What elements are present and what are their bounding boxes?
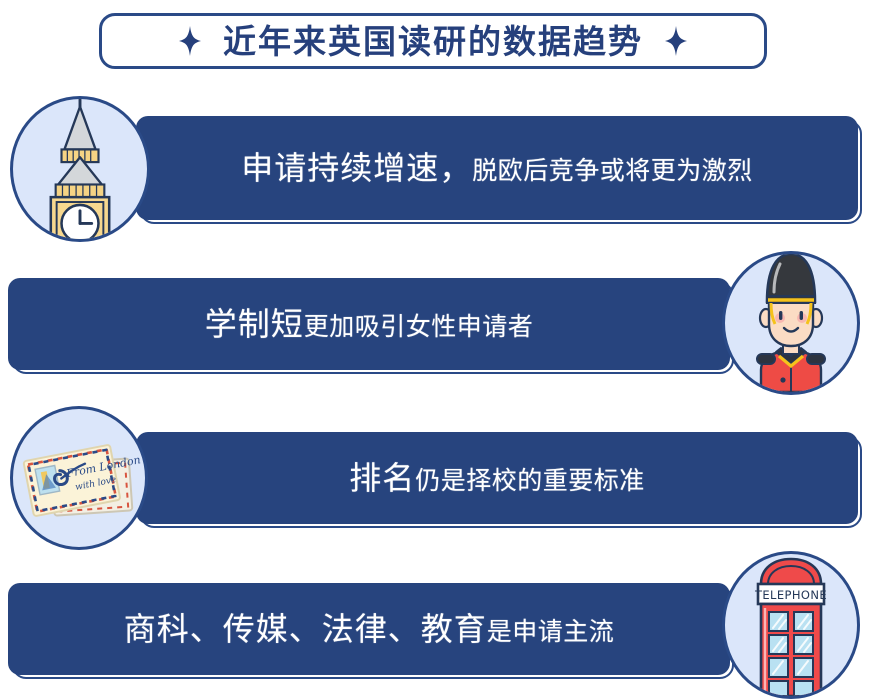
page-title: 近年来英国读研的数据趋势 — [223, 25, 643, 58]
info-bar-2-text: 学制短更加吸引女性申请者 — [8, 308, 730, 340]
info-bar-2[interactable]: 学制短更加吸引女性申请者 — [8, 278, 730, 370]
info-bar-3-detail: 仍是择校的重要标准 — [415, 466, 645, 495]
icon-bubble-4: TELEPHONE — [722, 551, 860, 699]
airmail-envelope-icon: From London with love — [13, 406, 145, 550]
icon-bubble-2 — [722, 251, 860, 395]
big-ben-icon — [20, 96, 140, 239]
info-bar-1-emphasis: 申请持续增速 — [241, 149, 439, 187]
info-bar-1-detail: 脱欧后竞争或将更为激烈 — [472, 156, 753, 185]
royal-guard-icon — [731, 251, 851, 392]
info-bar-3[interactable]: 排名仍是择校的重要标准 — [136, 432, 858, 524]
info-bar-1-separator: ， — [439, 149, 472, 187]
info-bar-4-detail: 是申请主流 — [487, 617, 615, 646]
info-bar-3-text: 排名仍是择校的重要标准 — [136, 462, 858, 494]
info-bar-4-emphasis: 商科、传媒、法律、教育 — [124, 610, 487, 648]
title-box: 近年来英国读研的数据趋势 — [99, 13, 767, 69]
svg-text:TELEPHONE: TELEPHONE — [754, 588, 827, 602]
info-bar-3-emphasis: 排名 — [349, 459, 415, 497]
icon-bubble-3: From London with love — [10, 406, 148, 550]
telephone-box-icon: TELEPHONE — [731, 551, 851, 696]
icon-bubble-1 — [10, 96, 150, 242]
info-bar-1[interactable]: 申请持续增速，脱欧后竞争或将更为激烈 — [136, 116, 858, 220]
page-title-banner: 近年来英国读研的数据趋势 — [99, 13, 767, 69]
info-bar-1-text: 申请持续增速，脱欧后竞争或将更为激烈 — [136, 152, 858, 184]
sparkle-diamond-icon-right — [665, 26, 687, 56]
sparkle-diamond-icon-left — [179, 26, 201, 56]
info-bar-2-emphasis: 学制短 — [205, 305, 304, 343]
info-bar-4-text: 商科、传媒、法律、教育是申请主流 — [8, 613, 730, 645]
info-bar-4[interactable]: 商科、传媒、法律、教育是申请主流 — [8, 583, 730, 675]
info-bar-2-detail: 更加吸引女性申请者 — [304, 312, 534, 341]
